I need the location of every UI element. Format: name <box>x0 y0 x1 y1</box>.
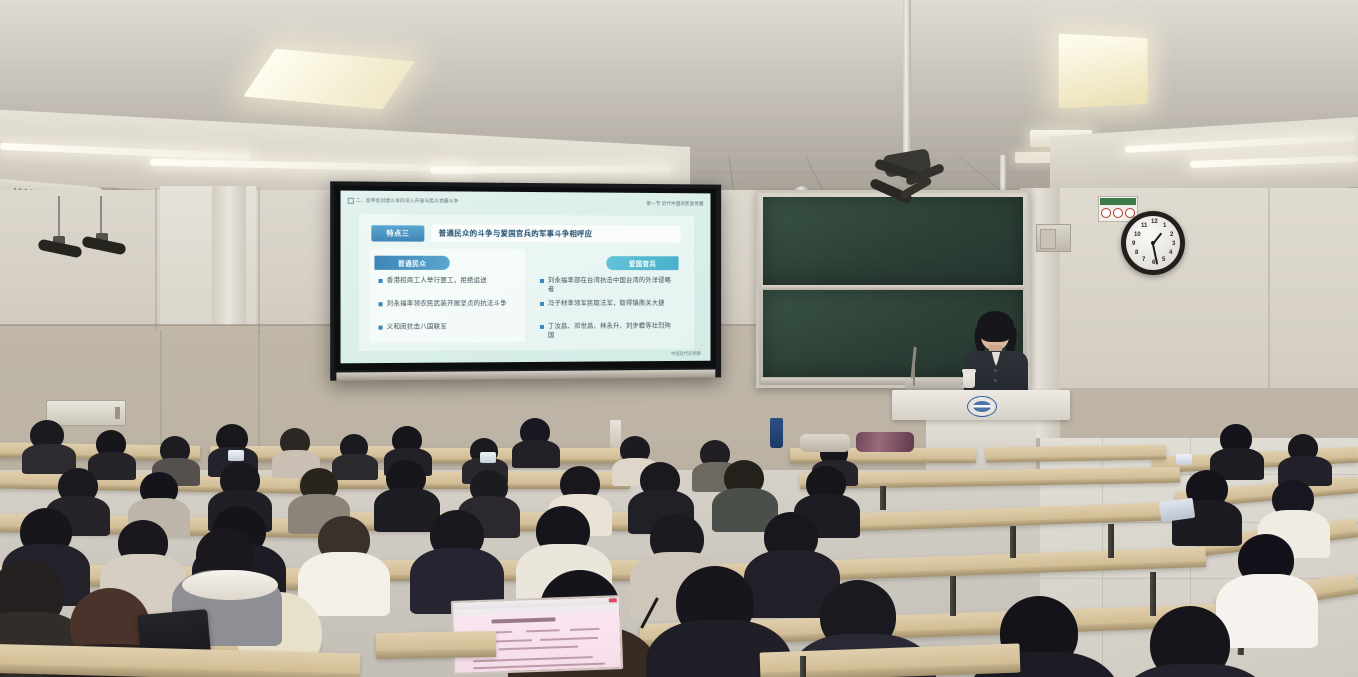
paper-cup <box>963 372 975 388</box>
chalkboard-panel-top <box>763 197 1023 285</box>
microphone-stand <box>913 360 915 386</box>
ceiling-light-panel <box>1059 34 1148 109</box>
jacket-on-desk <box>800 434 850 452</box>
clock-number: 1 <box>1163 223 1166 229</box>
slide-column-left: 普通民众 香港招商工人举行罢工，拒绝运送 刘永福率领农民武装开展坚贞的抗法斗争 … <box>369 249 525 343</box>
clock-center-pin <box>1151 241 1155 245</box>
square-bullet-icon <box>540 279 544 283</box>
clock-number: 8 <box>1135 250 1138 256</box>
bullet-item: 刘永福率部在台湾抗击中国台湾的外洋侵略者 <box>540 276 677 294</box>
wall-column <box>212 186 246 332</box>
clock-number: 10 <box>1134 232 1141 238</box>
slide-title-row: 特点三 普通民众的斗争与爱国官兵的军事斗争相呼应 <box>371 223 680 243</box>
wall-seam <box>155 188 157 330</box>
slide-feature-tag: 特点三 <box>371 225 424 241</box>
clock-number: 11 <box>1141 223 1147 229</box>
sign-pictograms <box>1101 207 1135 219</box>
clock-number: 2 <box>1170 232 1173 238</box>
desk-row <box>986 444 1166 462</box>
square-bullet-icon <box>348 198 354 204</box>
wall-control-box <box>1036 224 1071 252</box>
bullet-item: 刘永福率领农民武装开展坚贞的抗法斗争 <box>379 299 520 308</box>
desk-row <box>376 631 496 659</box>
bullet-item: 香港招商工人举行罢工，拒绝运送 <box>379 276 520 285</box>
phone-on-desk <box>480 452 496 463</box>
clock-number: 4 <box>1169 250 1172 256</box>
ceiling <box>0 0 1358 196</box>
square-bullet-icon <box>540 324 544 328</box>
desk-leg <box>1010 526 1016 558</box>
wall-clock: 12 1 2 3 4 5 6 7 8 9 10 11 <box>1121 211 1185 275</box>
sign-header-bar <box>1100 198 1136 205</box>
slide-two-columns: 普通民众 香港招商工人举行罢工，拒绝运送 刘永福率领农民武装开展坚贞的抗法斗争 … <box>369 249 682 343</box>
column-left-pill: 普通民众 <box>374 256 449 270</box>
slide-title: 普通民众的斗争与爱国官兵的军事斗争相呼应 <box>431 225 680 243</box>
slide-header-left: 二、反帝反封建斗争的深入开展与民众觉醒斗争 <box>348 198 459 205</box>
jacket-button <box>994 369 997 372</box>
clock-face: 12 1 2 3 4 5 6 7 8 9 10 11 <box>1126 216 1180 270</box>
clock-number: 3 <box>1172 241 1175 247</box>
projection-screen[interactable]: 二、反帝反封建斗争的深入开展与民众觉醒斗争 第一节 近代中国的民族觉醒 特点三 … <box>330 181 721 380</box>
water-bottle <box>610 420 621 448</box>
right-wall <box>1050 188 1358 388</box>
wall-access-plate <box>46 400 126 426</box>
desk-leg <box>880 486 886 510</box>
lecture-hall-photo: 12 1 2 3 4 5 6 7 8 9 10 11 <box>0 0 1358 677</box>
slide-header-right: 第一节 近代中国的民族觉醒 <box>646 200 703 206</box>
clock-number: 5 <box>1162 257 1165 263</box>
ceiling-camera-pole <box>903 0 911 160</box>
bullet-item: 冯子材率领军民取法军，取得镇南关大捷 <box>540 299 677 308</box>
slide-column-right: 爱国官兵 刘永福率部在台湾抗击中国台湾的外洋侵略者 冯子材率领军民取法军，取得镇… <box>531 249 682 342</box>
square-bullet-icon <box>379 325 383 329</box>
wall-seam <box>1268 188 1270 388</box>
desk-leg <box>1150 572 1156 616</box>
pictogram-icon <box>1101 208 1111 218</box>
wall-seam <box>160 330 162 460</box>
slide-header-row: 二、反帝反封建斗争的深入开展与民众觉醒斗争 第一节 近代中国的民族觉醒 <box>348 196 704 209</box>
presentation-slide: 二、反帝反封建斗争的深入开展与民众觉醒斗争 第一节 近代中国的民族觉醒 特点三 … <box>341 191 711 364</box>
desk-leg <box>1108 524 1114 558</box>
clock-number: 9 <box>1132 241 1135 247</box>
desk-leg <box>800 656 806 677</box>
slide-footer: 中国近代史纲要 <box>671 351 701 357</box>
clock-number: 7 <box>1142 257 1145 263</box>
jacket-button <box>994 379 997 382</box>
phone-on-desk <box>1176 454 1192 465</box>
column-right-pill: 爱国官兵 <box>606 256 678 270</box>
square-bullet-icon <box>540 301 544 305</box>
wall-seam <box>258 330 260 462</box>
fur-collar <box>182 570 278 600</box>
phone-on-desk <box>228 450 244 461</box>
bullet-item: 丁汝昌、邓世昌、林永升、刘步蟾等壮烈殉国 <box>540 321 677 339</box>
water-bottle <box>770 418 783 448</box>
square-bullet-icon <box>379 278 383 282</box>
pictogram-icon <box>1113 208 1123 218</box>
hair <box>977 311 1014 342</box>
toolbar-accent-icon <box>609 598 617 602</box>
document-title-line <box>491 617 555 623</box>
slide-content-card: 特点三 普通民众的斗争与爱国官兵的军事斗争相呼应 普通民众 香港招商工人举行罢工… <box>359 214 694 351</box>
desk-leg <box>950 576 956 616</box>
crest-inner <box>973 401 991 412</box>
clock-number: 12 <box>1151 219 1158 225</box>
wall-seam <box>258 188 260 334</box>
square-bullet-icon <box>379 302 383 306</box>
university-crest-icon <box>967 396 997 417</box>
jacket-on-desk <box>856 432 914 452</box>
cup-lid <box>962 369 976 373</box>
bullet-item: 义和团抗击八国联军 <box>379 322 520 332</box>
